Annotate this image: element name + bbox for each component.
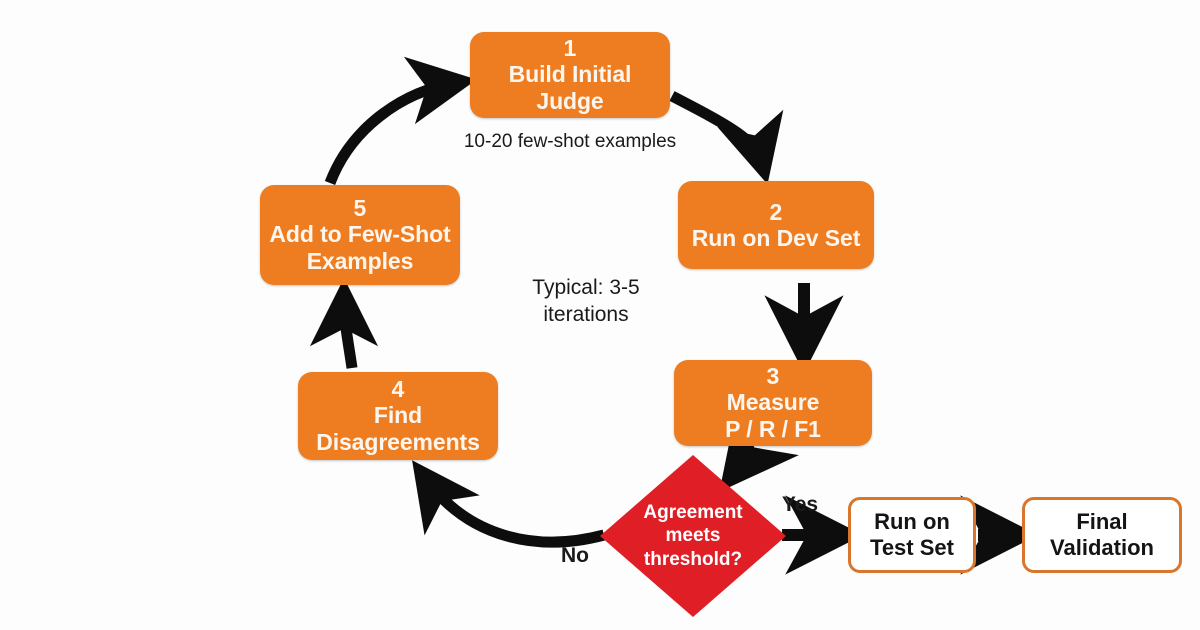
edge-decision-no-to-step4: [425, 478, 604, 542]
diagram-canvas: 1 Build Initial Judge 10-20 few-shot exa…: [0, 0, 1200, 630]
step-3-number: 3: [767, 363, 780, 389]
edge-step4-to-step5: [344, 300, 352, 368]
outcome-node-test-set[interactable]: Run on Test Set: [848, 497, 976, 573]
step-4-label: Find Disagreements: [308, 402, 488, 455]
step-node-4[interactable]: 4 Find Disagreements: [298, 372, 498, 460]
decision-node-agreement[interactable]: Agreement meets threshold?: [600, 455, 786, 617]
edge-step5-to-step1: [330, 83, 455, 183]
step-node-3[interactable]: 3 Measure P / R / F1: [674, 360, 872, 446]
decision-label: Agreement meets threshold?: [600, 455, 786, 617]
caption-typical-iterations: Typical: 3-5 iterations: [480, 275, 692, 329]
outcome-node-final-validation[interactable]: Final Validation: [1022, 497, 1182, 573]
step-2-label: Run on Dev Set: [684, 225, 869, 252]
edge-step1-to-step2: [672, 96, 762, 163]
edge-label-yes: Yes: [768, 492, 832, 517]
step-node-5[interactable]: 5 Add to Few-Shot Examples: [260, 185, 460, 285]
step-1-number: 1: [564, 35, 577, 61]
step-1-label: Build Initial Judge: [470, 61, 670, 114]
step-node-1[interactable]: 1 Build Initial Judge: [470, 32, 670, 118]
step-3-label: Measure P / R / F1: [717, 389, 829, 442]
step-4-number: 4: [392, 376, 405, 402]
step-2-number: 2: [770, 199, 783, 225]
step-node-2[interactable]: 2 Run on Dev Set: [678, 181, 874, 269]
edge-label-no: No: [545, 543, 605, 568]
caption-few-shot-examples: 10-20 few-shot examples: [455, 130, 685, 154]
step-5-number: 5: [354, 195, 367, 221]
step-5-label: Add to Few-Shot Examples: [261, 221, 458, 274]
